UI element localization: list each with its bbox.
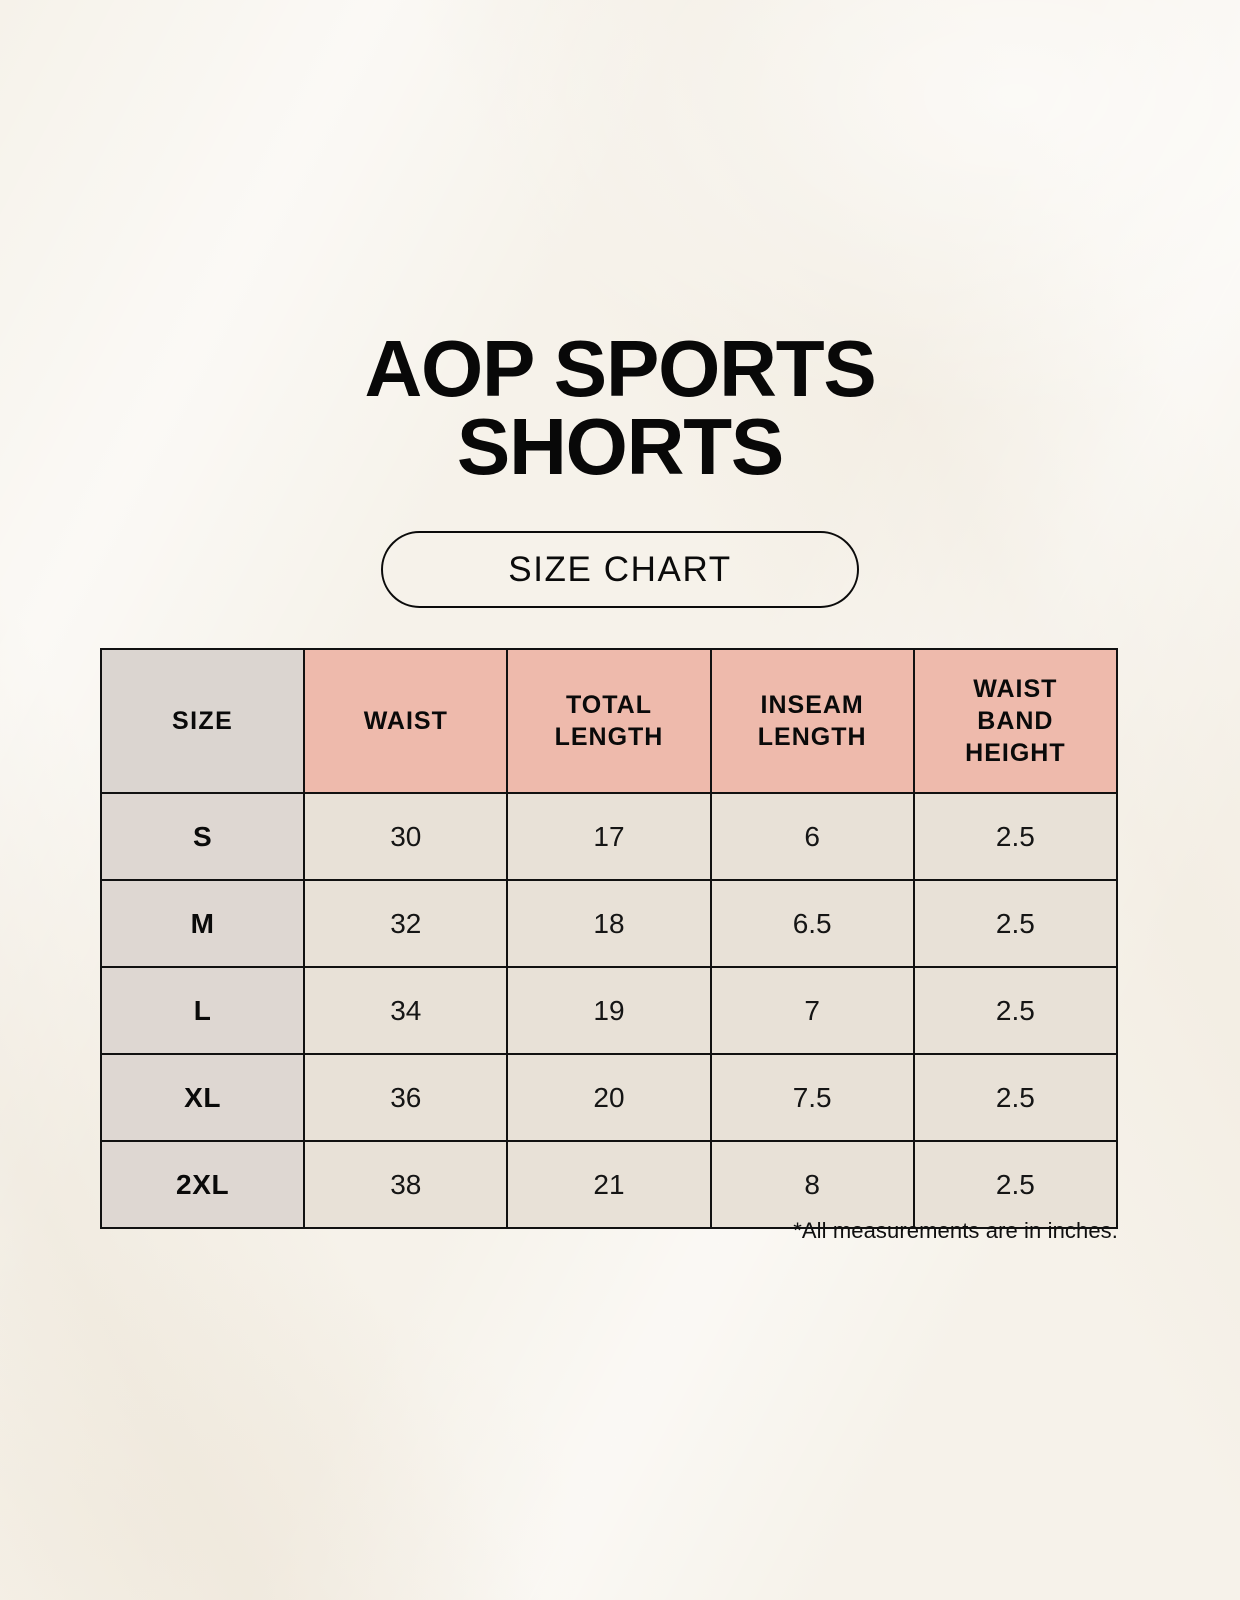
cell-waist-band-height: 2.5 (914, 967, 1117, 1054)
cell-total-length: 19 (507, 967, 710, 1054)
cell-total-length: 21 (507, 1141, 710, 1228)
cell-total-length: 20 (507, 1054, 710, 1141)
cell-total-length: 17 (507, 793, 710, 880)
column-header-waist-band-height: WAIST BAND HEIGHT (914, 649, 1117, 793)
cell-size: 2XL (101, 1141, 304, 1228)
column-header-total-length: TOTAL LENGTH (507, 649, 710, 793)
cell-waist: 36 (304, 1054, 507, 1141)
table-header: SIZE WAIST TOTAL LENGTH INSEAM LENGTH WA… (101, 649, 1117, 793)
measurements-footnote: *All measurements are in inches. (100, 1218, 1118, 1244)
cell-inseam-length: 7 (711, 967, 914, 1054)
cell-waist: 38 (304, 1141, 507, 1228)
table-row: L 34 19 7 2.5 (101, 967, 1117, 1054)
cell-inseam-length: 6 (711, 793, 914, 880)
page-title: AOP SPORTS SHORTS (0, 330, 1240, 487)
cell-waist-band-height: 2.5 (914, 793, 1117, 880)
cell-waist-band-height: 2.5 (914, 1054, 1117, 1141)
cell-waist: 32 (304, 880, 507, 967)
column-header-size: SIZE (101, 649, 304, 793)
table-body: S 30 17 6 2.5 M 32 18 6.5 2.5 L 34 19 (101, 793, 1117, 1228)
column-header-inseam-length: INSEAM LENGTH (711, 649, 914, 793)
column-header-waist: WAIST (304, 649, 507, 793)
table-row: XL 36 20 7.5 2.5 (101, 1054, 1117, 1141)
cell-total-length: 18 (507, 880, 710, 967)
cell-size: M (101, 880, 304, 967)
cell-size: L (101, 967, 304, 1054)
cell-inseam-length: 6.5 (711, 880, 914, 967)
size-chart-page: AOP SPORTS SHORTS SIZE CHART SIZE WAIST … (0, 0, 1240, 1600)
cell-waist-band-height: 2.5 (914, 880, 1117, 967)
cell-waist-band-height: 2.5 (914, 1141, 1117, 1228)
header-block: AOP SPORTS SHORTS (0, 330, 1240, 487)
size-chart-badge: SIZE CHART (381, 531, 859, 608)
cell-waist: 30 (304, 793, 507, 880)
table-row: S 30 17 6 2.5 (101, 793, 1117, 880)
size-table-container: SIZE WAIST TOTAL LENGTH INSEAM LENGTH WA… (100, 648, 1118, 1229)
cell-inseam-length: 8 (711, 1141, 914, 1228)
cell-inseam-length: 7.5 (711, 1054, 914, 1141)
table-row: 2XL 38 21 8 2.5 (101, 1141, 1117, 1228)
table-row: M 32 18 6.5 2.5 (101, 880, 1117, 967)
size-chart-table: SIZE WAIST TOTAL LENGTH INSEAM LENGTH WA… (100, 648, 1118, 1229)
size-chart-badge-label: SIZE CHART (508, 550, 731, 590)
table-header-row: SIZE WAIST TOTAL LENGTH INSEAM LENGTH WA… (101, 649, 1117, 793)
badge-container: SIZE CHART (0, 531, 1240, 608)
cell-waist: 34 (304, 967, 507, 1054)
cell-size: XL (101, 1054, 304, 1141)
cell-size: S (101, 793, 304, 880)
